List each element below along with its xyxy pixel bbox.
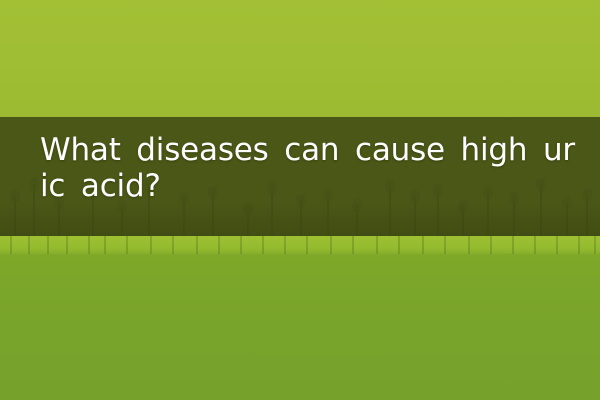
caption-band-top-edge	[0, 117, 600, 119]
grass-strip-trunks	[0, 236, 600, 254]
caption-band-shadow	[0, 202, 600, 236]
image-canvas: What diseases can cause high ur ic acid?	[0, 0, 600, 400]
background-upper-field	[0, 0, 600, 126]
caption-text: What diseases can cause high ur ic acid?	[40, 132, 585, 204]
background-lower-field	[0, 236, 600, 400]
grass-strip	[0, 236, 600, 254]
